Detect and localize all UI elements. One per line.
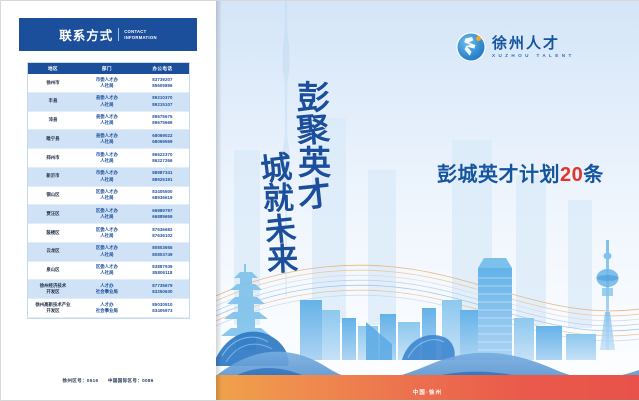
cell-department: 区委人才办人社局: [78, 186, 136, 205]
logo-text-block: 徐州人才 XUZHOU TALENT: [492, 36, 575, 59]
main-title-suffix: 条: [583, 164, 604, 186]
cell-department: 县委人才办人社局: [78, 111, 136, 130]
contact-header-en-line2: INFORMATION: [124, 35, 157, 40]
table-row: 云龙区区委人才办人社局8080365580803749: [28, 242, 189, 261]
cell-phone: 8388793985806118: [136, 261, 189, 280]
column-header-phone: 办公电话: [136, 63, 189, 74]
local-area-code: 徐州区号：0516: [62, 378, 98, 383]
cell-region: 徐州市: [28, 74, 78, 92]
main-title-number: 20: [560, 164, 583, 186]
header-divider: [118, 28, 119, 41]
column-header-department: 部门: [78, 63, 136, 74]
cell-region: 邳州市: [28, 149, 78, 168]
table-row: 铜山区区委人才办人社局8340550068936619: [28, 186, 189, 205]
page-edge-left: [0, 0, 1, 401]
table-row: 沛县县委人才办人社局8967567589675666: [28, 111, 189, 130]
footer-location-text: 中国·徐州: [216, 388, 639, 396]
cell-region: 睢宁县: [28, 130, 78, 149]
xuzhou-talent-logo: 徐州人才 XUZHOU TALENT: [456, 32, 575, 62]
table-row: 丰县县委人才办人社局8921037089215107: [28, 92, 189, 111]
table-row: 徐州高新技术产业开发区人才办社会事业局8503051083405973: [28, 299, 189, 318]
cell-region: 徐州经济技术开发区: [28, 280, 78, 299]
cell-phone: 8898734188925191: [136, 167, 189, 186]
tv-tower: [597, 240, 619, 350]
cell-phone: 8763668287636102: [136, 224, 189, 243]
contact-header-en-line1: CONTACT: [124, 29, 146, 34]
cell-region: 铜山区: [28, 186, 78, 205]
contact-table: 地区 部门 办公电话 徐州市市委人才办人社局8373920785609896丰县…: [28, 63, 189, 318]
cell-region: 新沂市: [28, 167, 78, 186]
cell-department: 县委人才办人社局: [78, 92, 136, 111]
logo-name-en: XUZHOU TALENT: [492, 53, 575, 58]
table-row: 邳州市市委人才办人社局8662237086227266: [28, 149, 189, 168]
cell-region: 贾汪区: [28, 205, 78, 224]
cell-phone: 6806902268069559: [136, 130, 189, 149]
table-header-row: 地区 部门 办公电话: [28, 63, 189, 74]
calligraphy-character: 彭: [297, 82, 331, 115]
cell-region: 泉山区: [28, 261, 78, 280]
contact-table-container: 地区 部门 办公电话 徐州市市委人才办人社局8373920785609896丰县…: [27, 62, 190, 319]
highrise-towers: [442, 258, 596, 360]
talent-logo-icon: [456, 32, 486, 62]
cell-phone: 8340550068936619: [136, 186, 189, 205]
cell-region: 丰县: [28, 92, 78, 111]
cell-phone: 8921037089215107: [136, 92, 189, 111]
cell-department: 市委人才办人社局: [78, 149, 136, 168]
table-row: 徐州市市委人才办人社局8373920785609896: [28, 74, 189, 92]
page-gutter-shadow: [216, 0, 222, 401]
cell-department: 县委人才办人社局: [78, 130, 136, 149]
main-title-prefix: 彭城英才计划: [437, 164, 560, 186]
cell-phone: 8773567983250630: [136, 280, 189, 299]
cell-phone: 8503051083405973: [136, 299, 189, 318]
brochure-spread: 联系方式 CONTACT INFORMATION 地区 部门 办公电话 徐州市市…: [0, 0, 639, 401]
table-row: 新沂市市委人才办人社局8898734188925191: [28, 167, 189, 186]
cell-region: 徐州高新技术产业开发区: [28, 299, 78, 318]
cell-department: 区委人才办人社局: [78, 205, 136, 224]
main-title: 彭城英才计划20条: [437, 158, 604, 187]
cell-department: 区委人才办人社局: [78, 261, 136, 280]
cell-region: 云龙区: [28, 242, 78, 261]
logo-name-cn: 徐州人才: [492, 36, 575, 52]
page-edge-top: [0, 0, 639, 1]
international-area-code: 中国国际区号：0086: [108, 378, 154, 383]
cell-department: 区委人才办人社局: [78, 224, 136, 243]
cell-department: 人才办社会事业局: [78, 299, 136, 318]
table-row: 睢宁县县委人才办人社局6806902268069559: [28, 130, 189, 149]
contact-information-header: 联系方式 CONTACT INFORMATION: [19, 18, 197, 51]
cell-department: 市委人才办人社局: [78, 167, 136, 186]
cell-phone: 8080365580803749: [136, 242, 189, 261]
contact-header-title-cn: 联系方式: [59, 25, 113, 44]
column-header-region: 地区: [28, 63, 78, 74]
right-page: 徐州人才 XUZHOU TALENT 彭聚英才 城就未来 彭城英才计划20条: [216, 0, 639, 401]
cell-region: 鼓楼区: [28, 224, 78, 243]
cell-phone: 8662237086227266: [136, 149, 189, 168]
area-code-note: 徐州区号：0516 中国国际区号：0086: [0, 378, 216, 384]
cell-phone: 8373920785609896: [136, 74, 189, 92]
contact-header-title-en: CONTACT INFORMATION: [124, 29, 157, 40]
contact-table-body: 徐州市市委人才办人社局8373920785609896丰县县委人才办人社局892…: [28, 74, 189, 317]
cell-department: 人才办社会事业局: [78, 280, 136, 299]
table-row: 徐州经济技术开发区人才办社会事业局8773567983250630: [28, 280, 189, 299]
cell-department: 区委人才办人社局: [78, 242, 136, 261]
cell-department: 市委人才办人社局: [78, 74, 136, 92]
cell-region: 沛县: [28, 111, 78, 130]
table-row: 泉山区区委人才办人社局8388793985806118: [28, 261, 189, 280]
calligraphy-character: 就: [263, 184, 295, 215]
table-row: 贾汪区区委人才办人社局6688979766889659: [28, 205, 189, 224]
table-row: 鼓楼区区委人才办人社局8763668287636102: [28, 224, 189, 243]
cell-phone: 6688979766889659: [136, 205, 189, 224]
left-page: 联系方式 CONTACT INFORMATION 地区 部门 办公电话 徐州市市…: [0, 0, 216, 401]
cell-phone: 8967567589675666: [136, 111, 189, 130]
